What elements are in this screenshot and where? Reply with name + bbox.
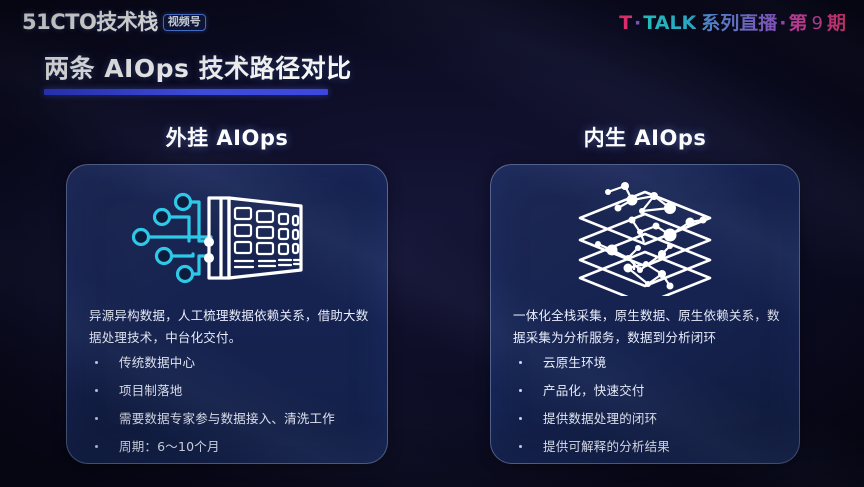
list-item: 传统数据中心 bbox=[89, 355, 369, 372]
card-bullet-list-left: 传统数据中心 项目制落地 需要数据专家参与数据接入、清洗工作 周期：6～10个月 bbox=[89, 355, 369, 456]
list-item: 项目制落地 bbox=[89, 383, 369, 400]
card-body-left: 异源异构数据，人工梳理数据依赖关系，借助大数据处理技术，中台化交付。 传统数据中… bbox=[89, 305, 369, 464]
ttalk-series-logo: T · TALK 系列直播 · 第 9 期 bbox=[619, 14, 846, 33]
list-item: 云原生环境 bbox=[513, 355, 781, 372]
list-item: 周期：6～10个月 bbox=[89, 439, 369, 456]
ttalk-issue-unit: 期 bbox=[827, 14, 846, 33]
ttalk-talk: TALK bbox=[643, 14, 696, 33]
slide-canvas: 51CTO技术栈 视频号 T · TALK 系列直播 · 第 9 期 两条 AI… bbox=[0, 0, 864, 487]
card-bullet-list-right: 云原生环境 产品化，快速交付 提供数据处理的闭环 提供可解释的分析结果 bbox=[513, 355, 781, 456]
brand-channel-badge: 视频号 bbox=[163, 14, 206, 31]
ttalk-issue-label: 第 bbox=[789, 14, 808, 33]
ttalk-t: T bbox=[619, 14, 632, 33]
server-rack-network-icon bbox=[129, 184, 325, 290]
card-external-aiops[interactable]: 异源异构数据，人工梳理数据依赖关系，借助大数据处理技术，中台化交付。 传统数据中… bbox=[66, 164, 388, 464]
ttalk-series-text: 系列直播 bbox=[701, 14, 777, 33]
card-body-right: 一体化全栈采集，原生数据、原生依赖关系，数据采集为分析服务，数据到分析闭环 云原… bbox=[513, 305, 781, 464]
list-item: 需要数据专家参与数据接入、清洗工作 bbox=[89, 411, 369, 428]
card-lead-text-right: 一体化全栈采集，原生数据、原生依赖关系，数据采集为分析服务，数据到分析闭环 bbox=[513, 305, 781, 348]
ttalk-separator-2: · bbox=[779, 14, 786, 33]
card-lead-text-left: 异源异构数据，人工梳理数据依赖关系，借助大数据处理技术，中台化交付。 bbox=[89, 305, 369, 348]
list-item: 提供可解释的分析结果 bbox=[513, 439, 781, 456]
list-item: 提供数据处理的闭环 bbox=[513, 411, 781, 428]
brand-name: 51CTO技术栈 bbox=[22, 12, 158, 33]
icon-container-right bbox=[491, 173, 799, 301]
icon-container-left bbox=[67, 173, 387, 301]
title-underline-accent bbox=[44, 89, 328, 95]
page-title: 两条 AIOps 技术路径对比 bbox=[44, 55, 352, 83]
list-item: 产品化，快速交付 bbox=[513, 383, 781, 400]
column-heading-external: 外挂 AIOps bbox=[66, 122, 388, 152]
card-native-aiops[interactable]: 一体化全栈采集，原生数据、原生依赖关系，数据采集为分析服务，数据到分析闭环 云原… bbox=[490, 164, 800, 464]
ttalk-separator: · bbox=[634, 14, 641, 33]
ttalk-issue-number: 9 bbox=[810, 15, 825, 33]
stacked-neural-layers-icon bbox=[570, 178, 720, 296]
column-heading-native: 内生 AIOps bbox=[490, 122, 800, 152]
brand-logo: 51CTO技术栈 视频号 bbox=[22, 12, 206, 33]
